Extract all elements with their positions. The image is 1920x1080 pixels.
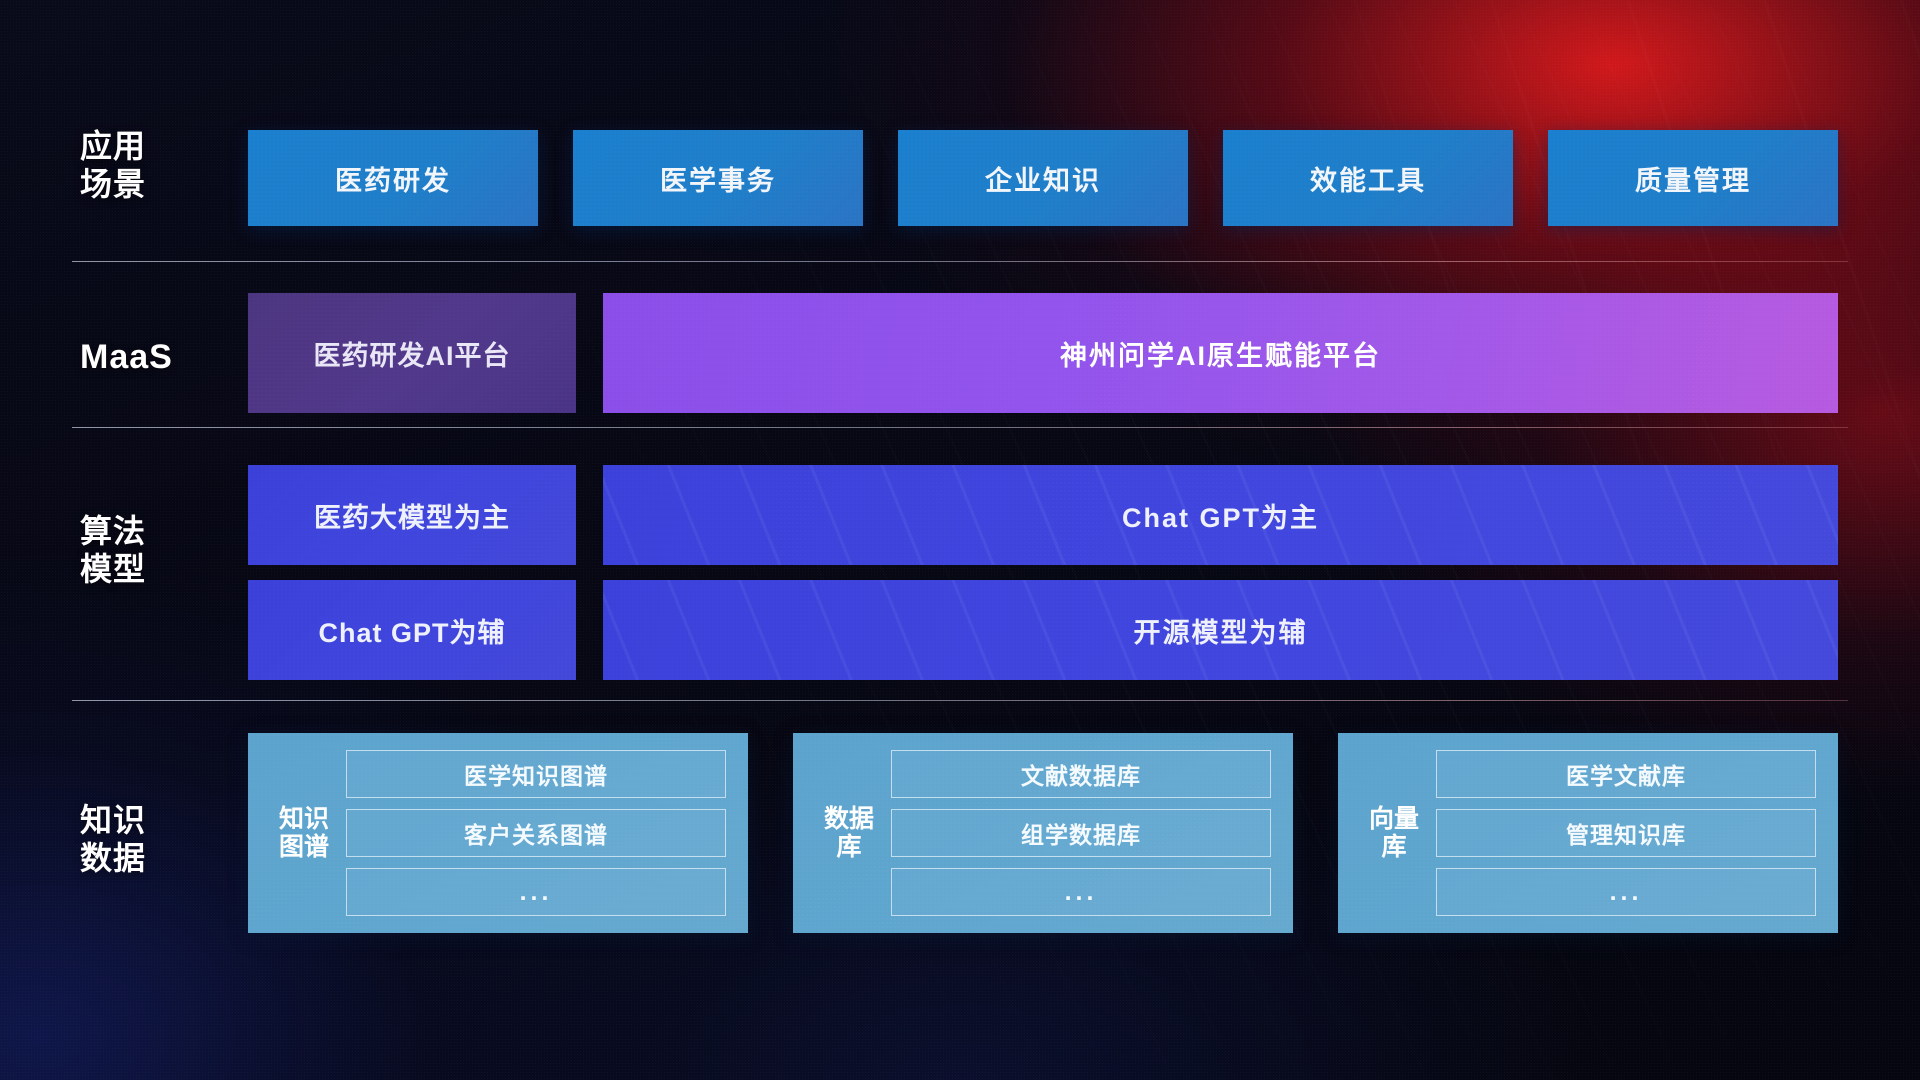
tier-label-line-1: 算法	[80, 513, 230, 551]
app-box-quality-management[interactable]: 质量管理	[1548, 130, 1838, 226]
algo-box-label: 开源模型为辅	[1134, 611, 1308, 650]
tier-label-maas: MaaS	[80, 337, 230, 377]
knowledge-item-list: 文献数据库 组学数据库 ...	[891, 750, 1271, 916]
knowledge-item-list: 医学文献库 管理知识库 ...	[1436, 750, 1816, 916]
app-box-label: 医药研发	[335, 159, 451, 198]
divider-after-application-scenarios	[72, 261, 1848, 262]
tier-label-line-2: 场景	[80, 166, 230, 204]
knowledge-item-list: 医学知识图谱 客户关系图谱 ...	[346, 750, 726, 916]
tier-label-knowledge-data: 知识 数据	[80, 802, 230, 878]
app-box-label: 企业知识	[985, 159, 1101, 198]
divider-after-maas	[72, 427, 1848, 428]
knowledge-item-more[interactable]: ...	[346, 868, 726, 916]
app-box-drug-rd[interactable]: 医药研发	[248, 130, 538, 226]
app-box-enterprise-knowledge[interactable]: 企业知识	[898, 130, 1188, 226]
app-box-label: 医学事务	[660, 159, 776, 198]
maas-box-label: 医药研发AI平台	[314, 334, 511, 373]
tier-label-line-1: 应用	[80, 128, 230, 166]
app-box-efficiency-tools[interactable]: 效能工具	[1223, 130, 1513, 226]
knowledge-item[interactable]: 文献数据库	[891, 750, 1271, 798]
knowledge-item[interactable]: 客户关系图谱	[346, 809, 726, 857]
app-box-label: 质量管理	[1635, 159, 1751, 198]
knowledge-group-vertical-label: 向量库	[1366, 805, 1422, 861]
knowledge-item[interactable]: 管理知识库	[1436, 809, 1816, 857]
algo-box-label: Chat GPT为辅	[318, 611, 505, 650]
knowledge-item-more[interactable]: ...	[1436, 868, 1816, 916]
algo-box-drug-large-model-primary[interactable]: 医药大模型为主	[248, 465, 576, 565]
algo-box-opensource-secondary[interactable]: 开源模型为辅	[603, 580, 1838, 680]
maas-box-drug-rd-ai-platform[interactable]: 医药研发AI平台	[248, 293, 576, 413]
knowledge-item-more[interactable]: ...	[891, 868, 1271, 916]
maas-box-shenzhou-wenxue-platform[interactable]: 神州问学AI原生赋能平台	[603, 293, 1838, 413]
app-box-label: 效能工具	[1310, 159, 1426, 198]
divider-after-algorithm-models	[72, 700, 1848, 701]
knowledge-item[interactable]: 医学知识图谱	[346, 750, 726, 798]
knowledge-group-vertical-label: 知识图谱	[276, 805, 332, 861]
knowledge-group-knowledge-graph[interactable]: 知识图谱 医学知识图谱 客户关系图谱 ...	[248, 733, 748, 933]
knowledge-group-database[interactable]: 数据库 文献数据库 组学数据库 ...	[793, 733, 1293, 933]
maas-box-label: 神州问学AI原生赋能平台	[1060, 334, 1381, 373]
knowledge-group-vertical-label: 数据库	[821, 805, 877, 861]
tier-label-line-1: MaaS	[80, 337, 230, 377]
algo-box-label: Chat GPT为主	[1122, 496, 1319, 535]
app-box-medical-affairs[interactable]: 医学事务	[573, 130, 863, 226]
tier-label-application-scenarios: 应用 场景	[80, 128, 230, 204]
algo-box-chatgpt-secondary[interactable]: Chat GPT为辅	[248, 580, 576, 680]
knowledge-item[interactable]: 医学文献库	[1436, 750, 1816, 798]
algo-box-label: 医药大模型为主	[314, 496, 510, 535]
tier-label-line-2: 数据	[80, 840, 230, 878]
tier-label-algorithm-models: 算法 模型	[80, 513, 230, 589]
tier-label-line-2: 模型	[80, 551, 230, 589]
knowledge-item[interactable]: 组学数据库	[891, 809, 1271, 857]
tier-label-line-1: 知识	[80, 802, 230, 840]
algo-box-chatgpt-primary[interactable]: Chat GPT为主	[603, 465, 1838, 565]
diagram-canvas: 应用 场景 医药研发 医学事务 企业知识 效能工具 质量管理 MaaS	[0, 0, 1920, 1080]
knowledge-group-vector-store[interactable]: 向量库 医学文献库 管理知识库 ...	[1338, 733, 1838, 933]
